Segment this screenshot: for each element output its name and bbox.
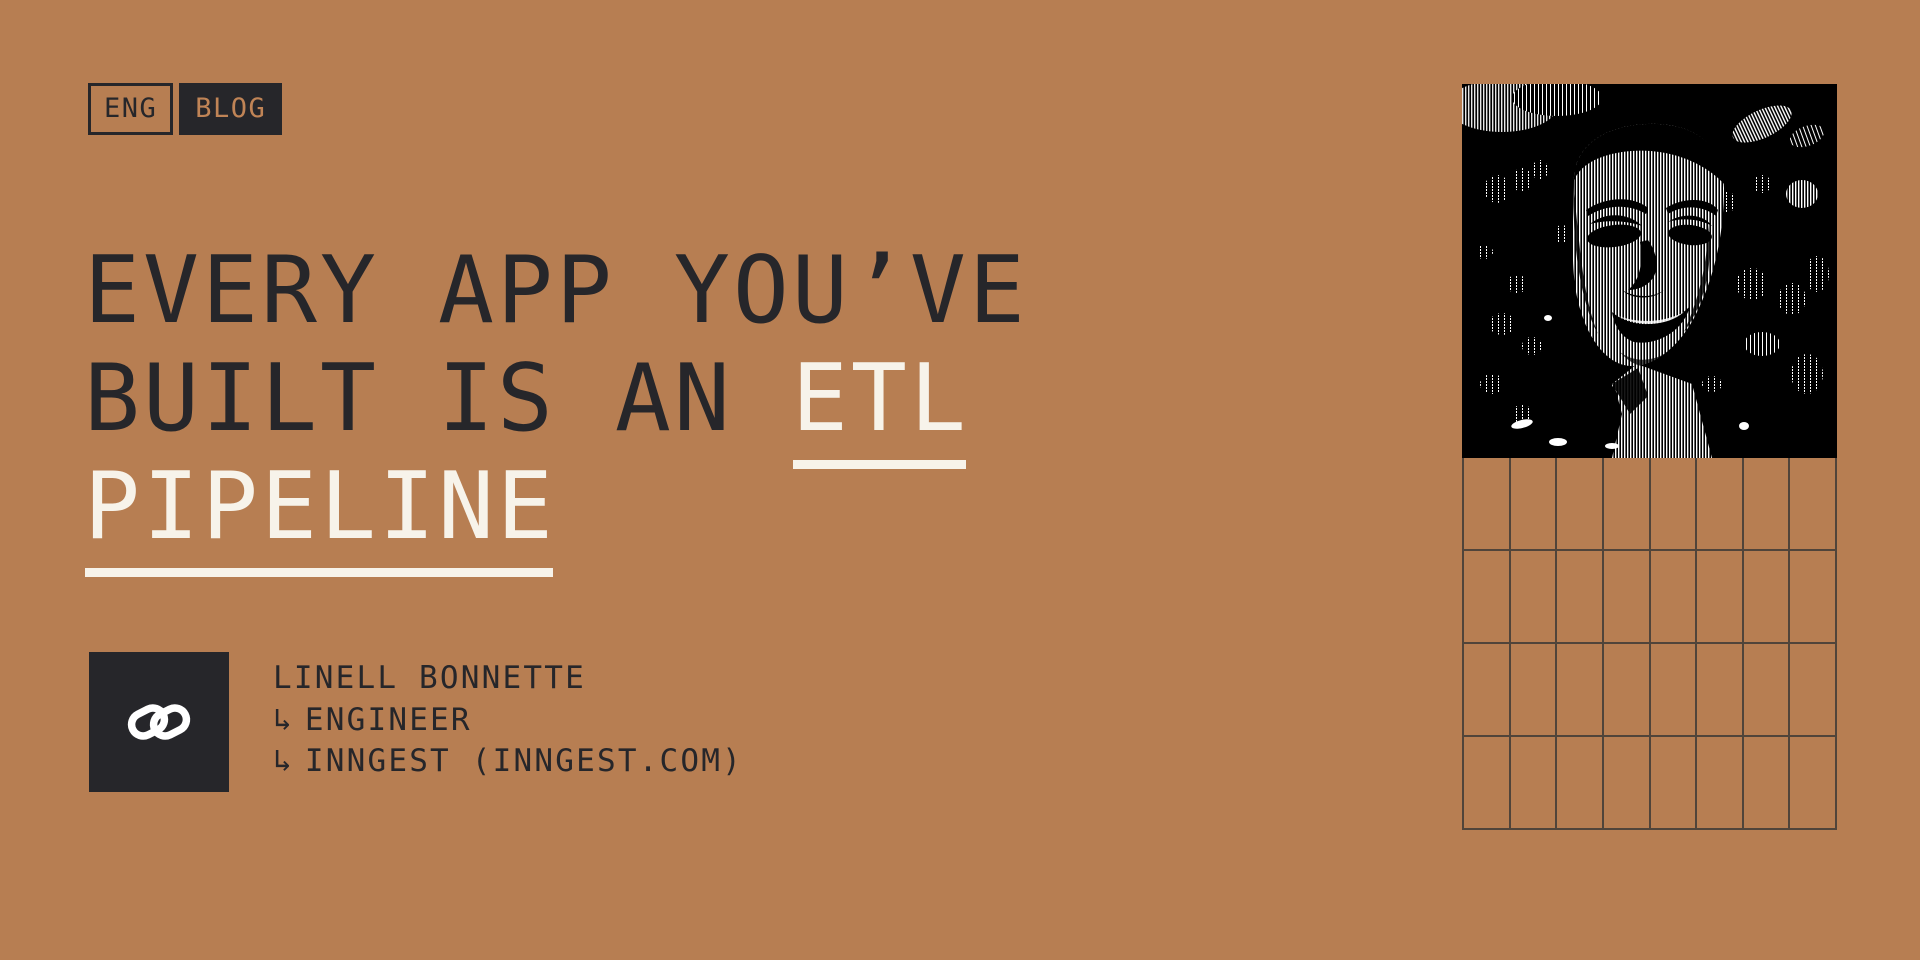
grid-cell [1557,551,1604,644]
grid-cell [1651,737,1698,830]
grid-cell [1557,737,1604,830]
grid-cell [1511,551,1558,644]
grid-cell [1464,737,1511,830]
author-company: INNGEST (INNGEST.COM) [305,743,743,779]
grid-cell [1697,644,1744,737]
grid-cell [1651,458,1698,551]
grid-cell [1511,458,1558,551]
author-block: LINELL BONNETTE ↳ENGINEER ↳INNGEST (INNG… [89,652,743,792]
grid-cell [1557,458,1604,551]
author-company-line: ↳INNGEST (INNGEST.COM) [273,741,743,783]
badge-eng[interactable]: ENG [88,83,173,135]
page-title: EVERY APP YOU’VE BUILT IS AN ETL PIPELIN… [84,237,1354,561]
grid-cell [1651,644,1698,737]
author-role-line: ↳ENGINEER [273,700,743,742]
headline-line-1: EVERY APP YOU’VE [84,236,1028,344]
author-meta: LINELL BONNETTE ↳ENGINEER ↳INNGEST (INNG… [273,652,743,783]
grid-cell [1790,458,1837,551]
grid-cell [1697,737,1744,830]
grid-cell [1557,644,1604,737]
grid-cell [1790,644,1837,737]
headline-line-2-plain: BUILT IS AN [84,344,792,452]
headline-keyword-etl: ETL [792,345,969,453]
grid-cell [1744,458,1791,551]
media-panel [1462,84,1837,830]
grid-cell [1604,644,1651,737]
grid-cell [1697,551,1744,644]
grid-cell [1790,551,1837,644]
grid-cell [1744,551,1791,644]
arrow-icon: ↳ [273,741,294,783]
grid-cell [1651,551,1698,644]
grid-cell [1604,737,1651,830]
grid-cell [1464,551,1511,644]
headline-keyword-pipeline: PIPELINE [84,453,556,561]
author-portrait-photo [1462,84,1837,458]
grid-cell [1604,551,1651,644]
grid-cell [1511,644,1558,737]
grid-cell [1604,458,1651,551]
grid-cell [1464,644,1511,737]
badge-row: ENG BLOG [88,83,282,135]
badge-blog[interactable]: BLOG [179,83,282,135]
arrow-icon: ↳ [273,700,294,742]
author-role: ENGINEER [305,702,472,738]
grid-cell [1744,644,1791,737]
grid-cell [1744,737,1791,830]
grid-cell [1511,737,1558,830]
inngest-infinity-logo-icon [89,652,229,792]
author-name: LINELL BONNETTE [273,658,743,700]
grid-cell [1464,458,1511,551]
grid-cell [1697,458,1744,551]
grid-cell [1790,737,1837,830]
